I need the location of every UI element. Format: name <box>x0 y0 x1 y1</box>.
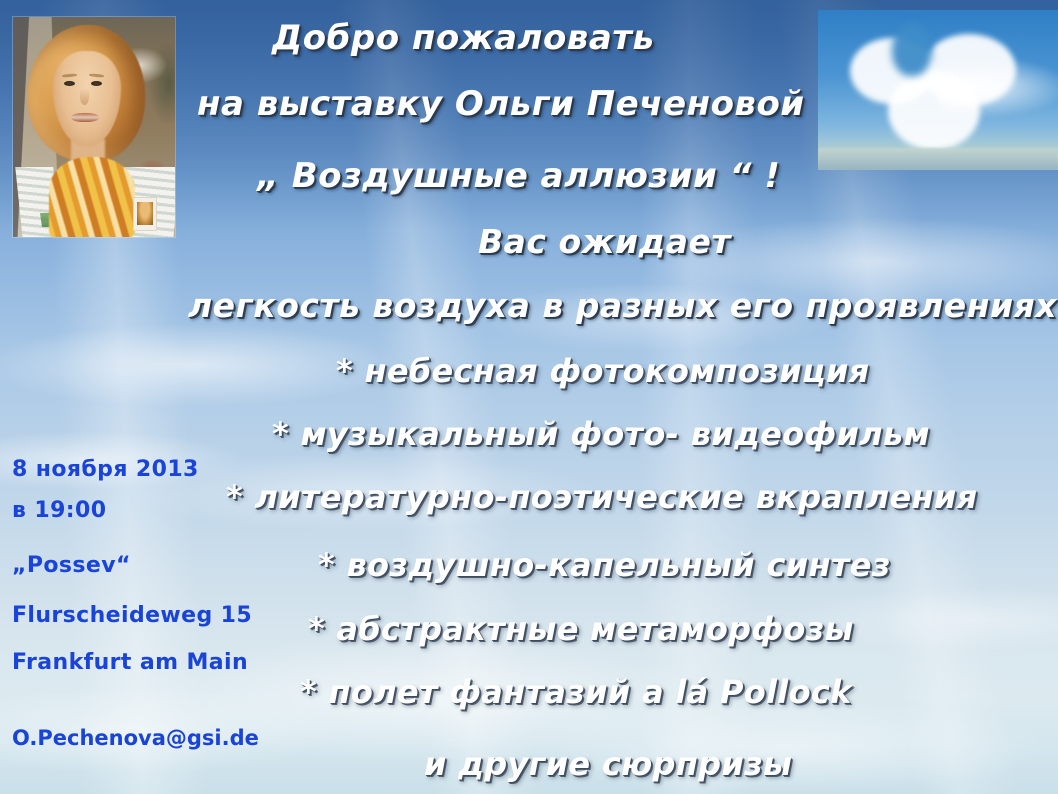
poster-canvas: Добро пожаловать на выставку Ольги Печен… <box>0 0 1058 794</box>
bullet-item-4: * воздушно-капельный синтез <box>318 546 891 584</box>
headline-exhibition: на выставку Ольги Печеновой <box>197 84 805 124</box>
event-date: 8 ноября 2013 <box>12 457 199 482</box>
heart-cloud-photo <box>818 10 1058 170</box>
contact-email[interactable]: O.Pechenova@gsi.de <box>12 726 259 750</box>
bullet-item-1: * небесная фотокомпозиция <box>336 352 870 390</box>
headline-welcome: Добро пожаловать <box>272 18 654 58</box>
portrait-mouth <box>71 113 99 122</box>
venue-name: „Possev“ <box>12 553 131 578</box>
cloud-wisp <box>938 56 1058 118</box>
cloud-photo-horizon <box>818 148 1058 170</box>
cutoff-text-bottom: и ... <box>596 785 662 794</box>
portrait-scarf <box>49 157 135 237</box>
bullet-item-5: * абстрактные метаморфозы <box>308 610 854 648</box>
headline-lightness: легкость воздуха в разных его проявления… <box>188 286 1058 325</box>
bullet-item-6: * полет фантазий a lá Pollock <box>300 673 852 711</box>
event-time: в 19:00 <box>12 498 106 523</box>
headline-awaits: Вас ожидает <box>478 222 731 261</box>
bullet-item-3: * литературно-поэтические вкрапления <box>226 478 977 516</box>
artist-portrait-photo <box>13 17 175 237</box>
venue-street: Flurscheideweg 15 <box>12 603 252 628</box>
headline-exhibit-title: „ Воздушные аллюзии “ ! <box>257 156 780 196</box>
portrait-nose <box>80 89 89 105</box>
portrait-eye-left <box>64 81 75 86</box>
heart-notch <box>892 24 932 76</box>
bullet-item-2: * музыкальный фото- видеофильм <box>272 415 930 453</box>
bullet-item-7: и другие сюрпризы <box>424 745 792 783</box>
portrait-eye-right <box>91 81 102 86</box>
venue-city: Frankfurt am Main <box>12 650 248 675</box>
portrait-badge-photo <box>133 197 157 231</box>
